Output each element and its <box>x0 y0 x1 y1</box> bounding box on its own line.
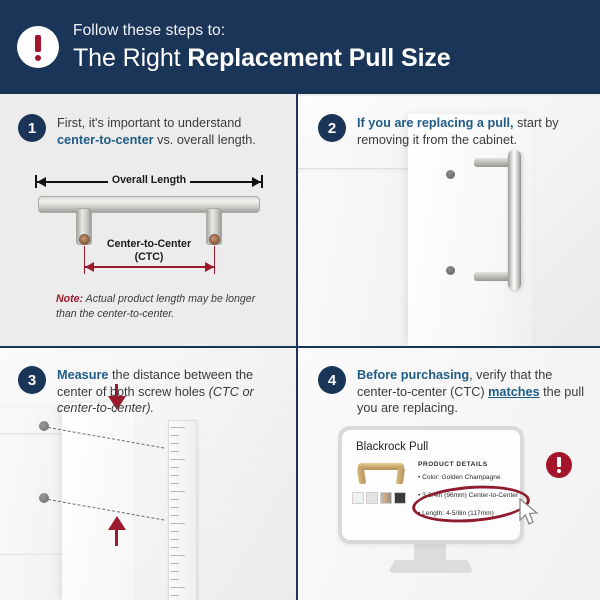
step-1-text: First, it's important to understand cent… <box>57 115 256 148</box>
monitor-neck <box>414 544 446 562</box>
step-1-header: 1 First, it's important to understand ce… <box>18 114 280 148</box>
step-2-bold: If you are replacing a pull, <box>357 116 514 130</box>
note-label: Note: <box>56 293 83 305</box>
step-4-text: Before purchasing, verify that the cente… <box>357 367 586 417</box>
step-1-bold: center-to-center <box>57 133 154 147</box>
step-3-text: Measure the distance between the center … <box>57 367 278 417</box>
swatch-2[interactable] <box>366 492 378 504</box>
ctc-highlight-ellipse <box>411 482 531 526</box>
note-body: Actual product length may be longer than… <box>56 293 255 320</box>
title-bold: Replacement Pull Size <box>187 44 450 72</box>
step-3-panel: 3 Measure the distance between the cente… <box>0 348 296 600</box>
step-4-bold: Before purchasing <box>357 368 469 382</box>
ctc-label: Center-to-Center (CTC) <box>78 238 220 264</box>
mouse-cursor-icon <box>518 498 542 526</box>
swatch-1[interactable] <box>352 492 364 504</box>
step-2-header: 2 If you are replacing a pull, start by … <box>318 114 568 148</box>
swatch-4[interactable] <box>394 492 406 504</box>
step-1-badge: 1 <box>18 114 46 142</box>
step-1-panel: 1 First, it's important to understand ce… <box>0 96 296 346</box>
product-detail-color: • Color: Golden Champagne <box>418 474 501 483</box>
overall-arrow-left-icon <box>37 177 46 187</box>
ctc-arrow-right-icon <box>205 262 214 272</box>
screw-hole-upper <box>446 170 455 179</box>
header-kicker: Follow these steps to: <box>73 23 451 39</box>
monitor-screen: Blackrock Pull PRODUCT DETAILS • Color: … <box>338 426 524 544</box>
page-title: The Right Replacement Pull Size <box>73 46 451 71</box>
ctc-arrow-left-icon <box>85 262 94 272</box>
header-bar: Follow these steps to: The Right Replace… <box>0 0 600 94</box>
infographic-page: Follow these steps to: The Right Replace… <box>0 0 600 600</box>
ruler-graphic <box>168 420 197 600</box>
pull-bar-graphic <box>38 196 260 213</box>
screw-hole-lower <box>446 266 455 275</box>
step-2-panel: 2 If you are replacing a pull, start by … <box>298 96 600 346</box>
step-3-bold: Measure <box>57 368 108 382</box>
exclamation-icon <box>546 452 572 478</box>
step-1-line1: First, it's important to understand <box>57 116 241 130</box>
overall-arrow-right-icon <box>252 177 261 187</box>
note-text: Note: Actual product length may be longe… <box>56 292 276 322</box>
product-swatches <box>352 492 406 504</box>
step-4-header: 4 Before purchasing, verify that the cen… <box>318 366 586 417</box>
product-details-heading: PRODUCT DETAILS <box>418 461 488 468</box>
exclamation-icon <box>17 26 59 68</box>
product-image <box>354 463 408 485</box>
step-4-badge: 4 <box>318 366 346 394</box>
monitor-base <box>388 560 474 573</box>
installed-pull <box>508 150 521 290</box>
pull-dimension-diagram: Overall Length Center-to-Center (CTC) <box>30 174 268 284</box>
step-1-line2: vs. overall length. <box>154 133 256 147</box>
product-title: Blackrock Pull <box>356 441 428 453</box>
step-3-badge: 3 <box>18 366 46 394</box>
overall-length-label: Overall Length <box>30 174 268 186</box>
step-4-panel: Blackrock Pull PRODUCT DETAILS • Color: … <box>298 348 600 600</box>
swatch-3[interactable] <box>380 492 392 504</box>
step-2-text: If you are replacing a pull, start by re… <box>357 115 568 148</box>
step-2-badge: 2 <box>318 114 346 142</box>
step-3-header: 3 Measure the distance between the cente… <box>18 366 278 417</box>
header-text: Follow these steps to: The Right Replace… <box>73 23 451 71</box>
step-4-link[interactable]: matches <box>488 385 539 399</box>
arrow-up-icon <box>108 516 126 530</box>
title-light: The Right <box>73 44 187 72</box>
